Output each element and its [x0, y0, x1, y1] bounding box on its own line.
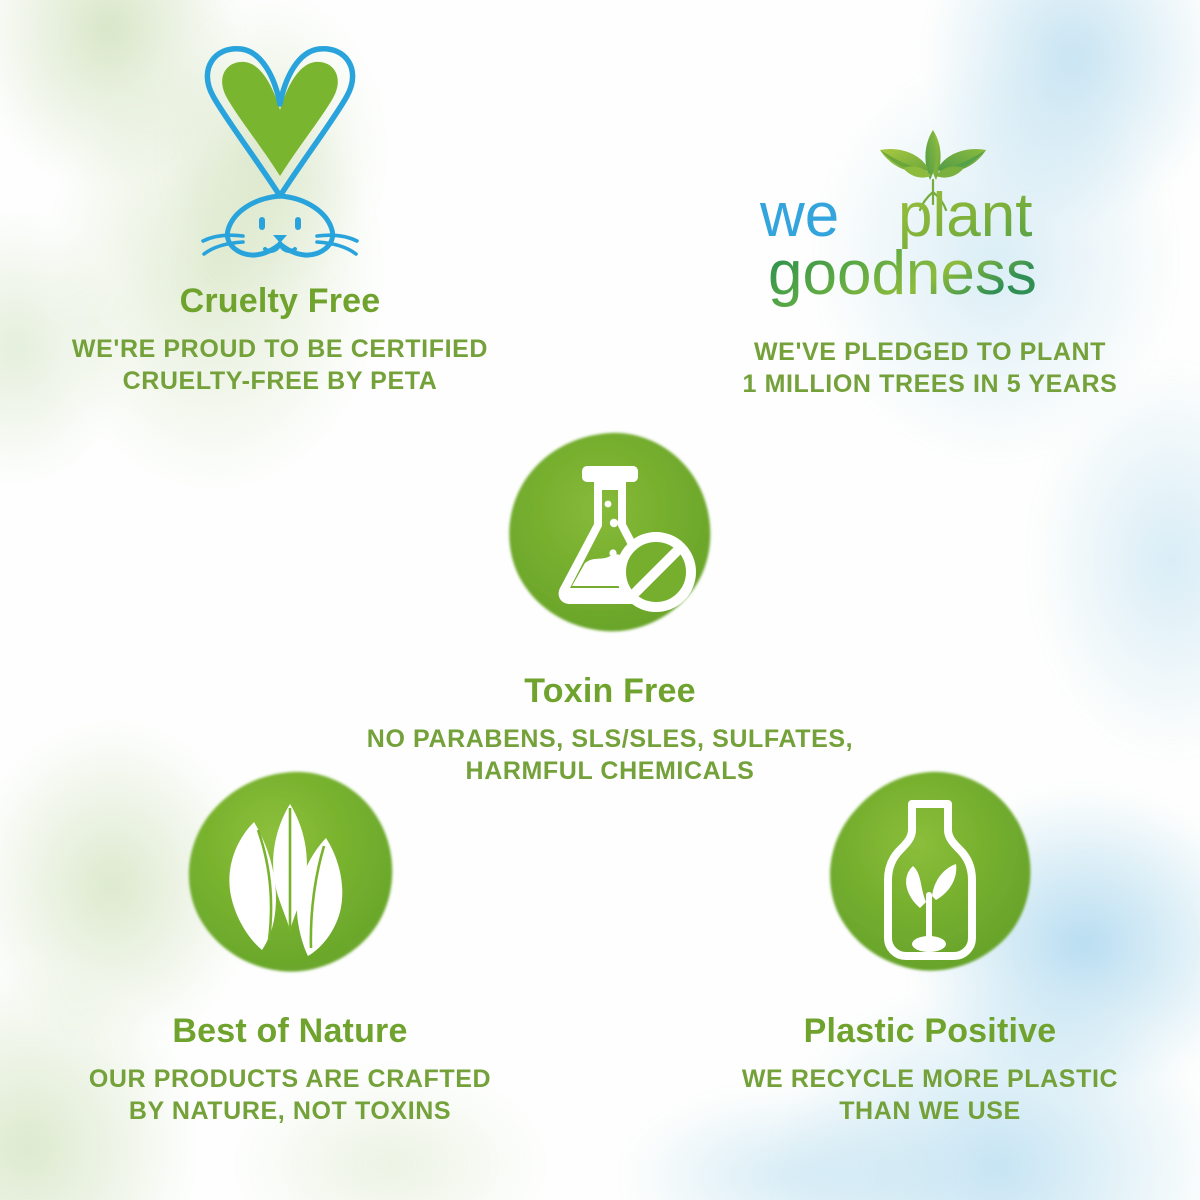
we-plant-goodness-logo: we plant goodness	[750, 118, 1110, 308]
bottle-sprout-icon	[810, 760, 1050, 1000]
badge-description-line: WE'RE PROUD TO BE CERTIFIED	[20, 333, 540, 365]
badge-title: Plastic Positive	[670, 1012, 1190, 1051]
badge-toxin-free: Toxin Free No PARABENS, SLS/SLES, SULFAT…	[350, 420, 870, 787]
badge-description: WE'RE PROUD TO BE CERTIFIED CRUELTY-FREE…	[20, 333, 540, 397]
badge-title: Best of Nature	[30, 1012, 550, 1051]
we-plant-goodness-logo-wrapper: we plant goodness	[670, 118, 1190, 308]
badge-description-line: WE'VE PLEDGED TO PLANT	[670, 336, 1190, 368]
three-leaves-icon	[170, 760, 410, 1000]
three-leaves-icon-wrapper	[170, 760, 410, 1000]
badge-cruelty-free: Cruelty Free WE'RE PROUD TO BE CERTIFIED…	[20, 38, 540, 397]
badge-description: WE'VE PLEDGED TO PLANT 1 MILLION TREES I…	[670, 336, 1190, 400]
badge-title: Toxin Free	[350, 672, 870, 711]
badge-title: Cruelty Free	[20, 282, 540, 321]
badge-description: WE RECYCLE MORE PLASTIC THAN WE USE	[670, 1063, 1190, 1127]
badge-description-line: THAN WE USE	[670, 1095, 1190, 1127]
badge-description: OUR PRODUCTS ARE CRAFTED BY NATURE, NOT …	[30, 1063, 550, 1127]
badge-description-line: 1 MILLION TREES IN 5 YEARS	[670, 368, 1190, 400]
badge-description-line: OUR PRODUCTS ARE CRAFTED	[30, 1063, 550, 1095]
flask-no-entry-icon	[490, 420, 730, 660]
bunny-heart-icon	[165, 38, 395, 268]
badge-description-line: BY NATURE, NOT TOXINS	[30, 1095, 550, 1127]
badge-description-line: CRUELTY-FREE BY PETA	[20, 365, 540, 397]
badge-description-line: No PARABENS, SLS/SLES, SULFATES,	[350, 723, 870, 755]
logo-word-goodness: goodness	[768, 239, 1037, 308]
bunny-heart-icon-wrapper	[20, 38, 540, 268]
brand-values-infographic: Cruelty Free WE'RE PROUD TO BE CERTIFIED…	[0, 0, 1200, 1200]
badge-plastic-positive: Plastic Positive WE RECYCLE MORE PLASTIC…	[670, 760, 1190, 1127]
bottle-sprout-icon-wrapper	[810, 760, 1050, 1000]
badge-we-plant-goodness: we plant goodness WE'VE PLEDGED TO PLANT…	[670, 118, 1190, 400]
badge-description-line: WE RECYCLE MORE PLASTIC	[670, 1063, 1190, 1095]
flask-no-entry-icon-wrapper	[490, 420, 730, 660]
badge-best-of-nature: Best of Nature OUR PRODUCTS ARE CRAFTED …	[30, 760, 550, 1127]
